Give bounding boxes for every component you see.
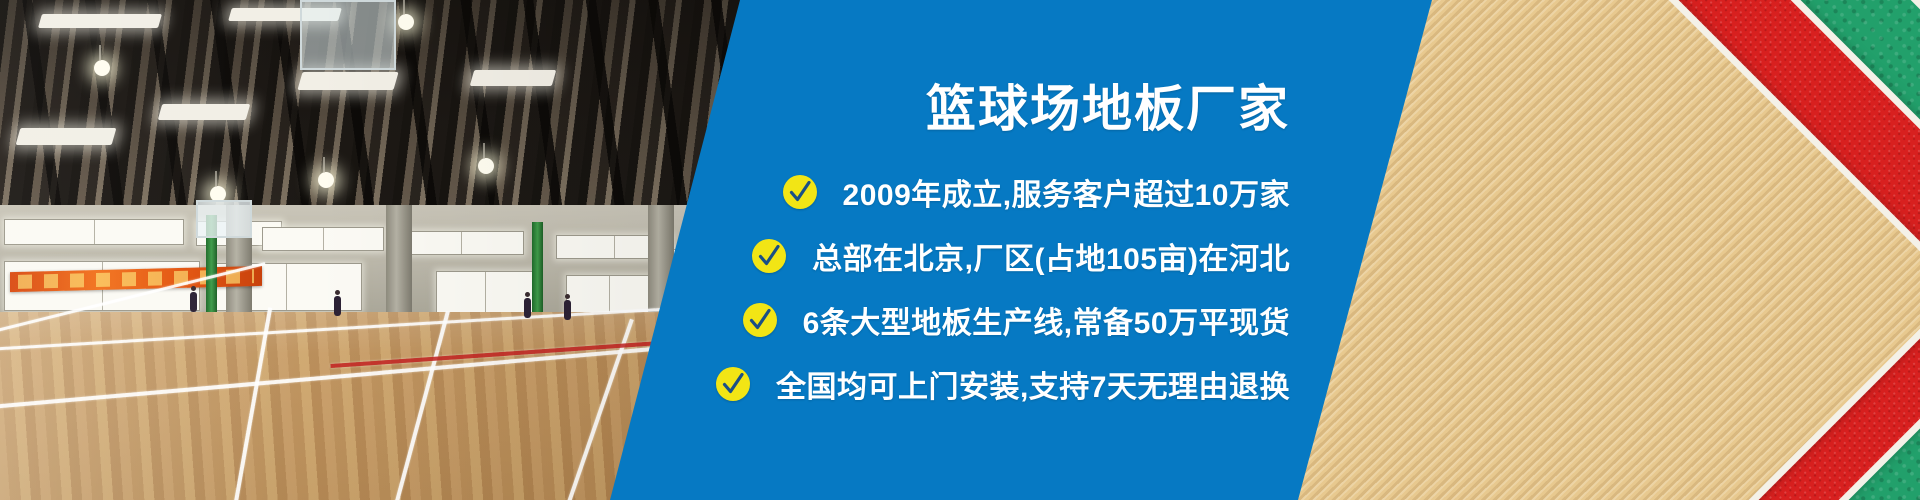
feature-item: 6条大型地板生产线,常备50万平现货 — [0, 288, 1290, 352]
check-circle-icon — [752, 239, 786, 273]
feature-item: 全国均可上门安装,支持7天无理由退换 — [0, 352, 1290, 416]
promo-banner: 篮球场地板厂家 2009年成立,服务客户超过10万家 总部在北京,厂区(占地10… — [0, 0, 1920, 500]
feature-text: 全国均可上门安装,支持7天无理由退换 — [776, 362, 1290, 406]
banner-content: 篮球场地板厂家 2009年成立,服务客户超过10万家 总部在北京,厂区(占地10… — [0, 0, 1920, 500]
feature-text: 6条大型地板生产线,常备50万平现货 — [803, 298, 1290, 342]
check-circle-icon — [743, 303, 777, 337]
banner-title: 篮球场地板厂家 — [0, 84, 1290, 134]
check-circle-icon — [783, 175, 817, 209]
check-circle-icon — [716, 367, 750, 401]
feature-text: 总部在北京,厂区(占地105亩)在河北 — [812, 234, 1290, 278]
feature-item: 总部在北京,厂区(占地105亩)在河北 — [0, 224, 1290, 288]
feature-item: 2009年成立,服务客户超过10万家 — [0, 160, 1290, 224]
feature-text: 2009年成立,服务客户超过10万家 — [843, 170, 1290, 214]
feature-list: 2009年成立,服务客户超过10万家 总部在北京,厂区(占地105亩)在河北 6… — [0, 160, 1290, 416]
